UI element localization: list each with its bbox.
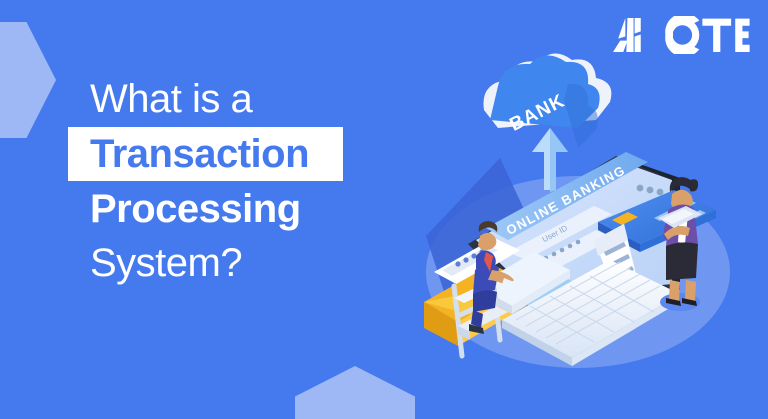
- headline-line-3: Processing: [90, 182, 301, 236]
- headline-highlight-bar: Transaction: [68, 127, 343, 181]
- hexagon-left-decoration: [0, 22, 56, 138]
- banner-root: What is a Transaction Processing System?: [0, 0, 768, 419]
- headline-line-2-highlighted: Transaction: [90, 127, 309, 181]
- headline-line-4: System?: [90, 236, 242, 290]
- online-banking-illustration: BANK ONLINE BANKING: [380, 40, 768, 400]
- headline-line-1: What is a: [90, 72, 390, 126]
- headline-block: What is a Transaction Processing System?: [90, 72, 390, 126]
